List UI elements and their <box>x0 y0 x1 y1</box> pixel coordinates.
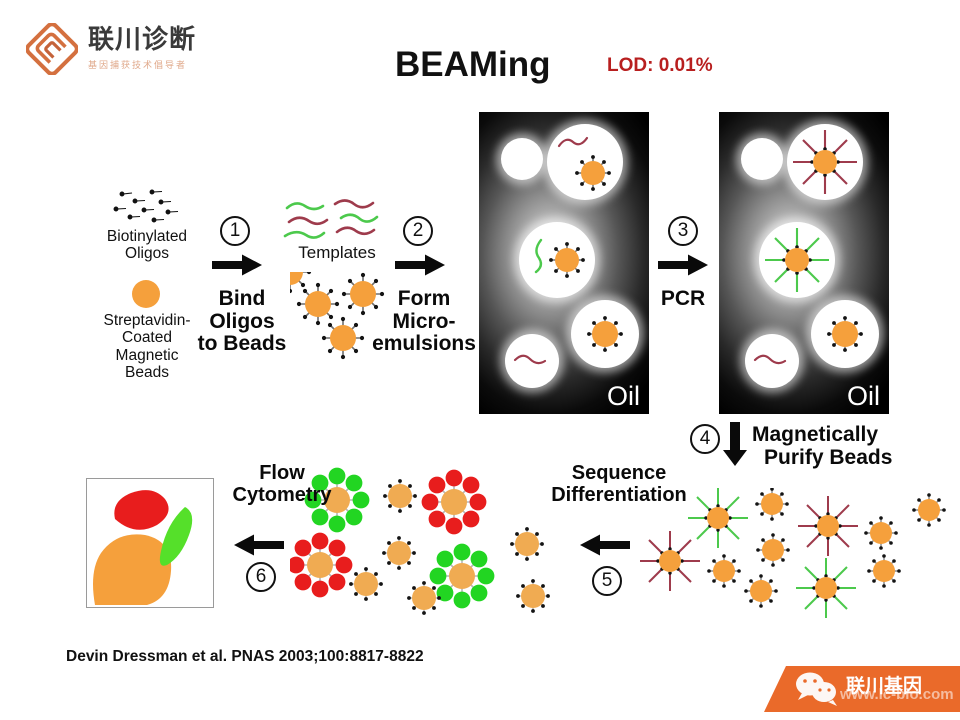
step-5-arrow-left-icon <box>578 532 632 558</box>
cyto-red-blob <box>114 490 168 530</box>
oil-label-2: Oil <box>847 381 880 412</box>
step-3-arrow-right-icon <box>656 252 710 278</box>
droplet-empty <box>501 138 543 180</box>
citation-text: Devin Dressman et al. PNAS 2003;100:8817… <box>66 648 424 666</box>
droplet-3-contents <box>571 300 639 368</box>
oil-label-1: Oil <box>607 381 640 412</box>
legend-oligos-label: Biotinylated Oligos <box>72 228 222 263</box>
step-5-number: 5 <box>592 566 622 596</box>
logo-tagline: 基因捕获技术倡导者 <box>88 58 196 71</box>
wechat-watermark: 联川基因 www.lc-bio.com <box>764 666 960 712</box>
step-5-caption: Sequence Differentiation <box>528 462 710 506</box>
step-2-number: 2 <box>403 216 433 246</box>
step-3-number: 3 <box>668 216 698 246</box>
biotinylated-oligos-icon <box>108 188 186 228</box>
step-1-arrow-right-icon <box>210 252 264 278</box>
templates-label: Templates <box>272 243 402 262</box>
amplified-bead-green <box>759 222 835 298</box>
droplet-empty <box>741 138 783 180</box>
emulsion-oil-panel: Oil <box>479 112 649 414</box>
flow-cytometry-plot <box>86 478 214 608</box>
templates-icon <box>283 196 393 244</box>
step-3-caption: PCR <box>642 288 724 311</box>
amplified-bead-red <box>787 124 863 200</box>
step-1-caption: Bind Oligos to Beads <box>182 288 302 356</box>
watermark-url: www.lc-bio.com <box>839 686 954 703</box>
step-2-arrow-right-icon <box>393 252 447 278</box>
step-4-number: 4 <box>690 424 720 454</box>
purified-bead-field <box>632 488 952 618</box>
page-title: BEAMing <box>395 45 551 85</box>
step-2-caption: Form Micro- emulsions <box>368 288 480 356</box>
pcr-oil-panel: Oil <box>719 112 889 414</box>
lod-badge: LOD: 0.01% <box>607 55 713 77</box>
step-6-arrow-left-icon <box>232 532 286 558</box>
step-6-caption: Flow Cytometry <box>212 462 352 506</box>
droplet-2-contents <box>519 222 595 298</box>
droplet-4-contents <box>505 334 559 388</box>
streptavidin-bead-icon <box>128 276 164 312</box>
cyto-orange-blob <box>93 534 171 605</box>
droplet-1-contents <box>547 124 623 200</box>
step-4-arrow-down-icon <box>722 420 748 466</box>
step-1-number: 1 <box>220 216 250 246</box>
slide-canvas: 联川诊断 基因捕获技术倡导者 BEAMing LOD: 0.01% Biotin… <box>0 0 960 720</box>
step-4-caption: Magnetically Purify Beads <box>752 424 960 469</box>
step-6-number: 6 <box>246 562 276 592</box>
plain-bead-in-droplet <box>811 300 879 368</box>
droplet-template-red <box>745 334 799 388</box>
logo-mark-icon <box>26 23 78 75</box>
logo-company-name: 联川诊断 <box>88 27 196 54</box>
company-logo: 联川诊断 基因捕获技术倡导者 <box>26 14 366 84</box>
